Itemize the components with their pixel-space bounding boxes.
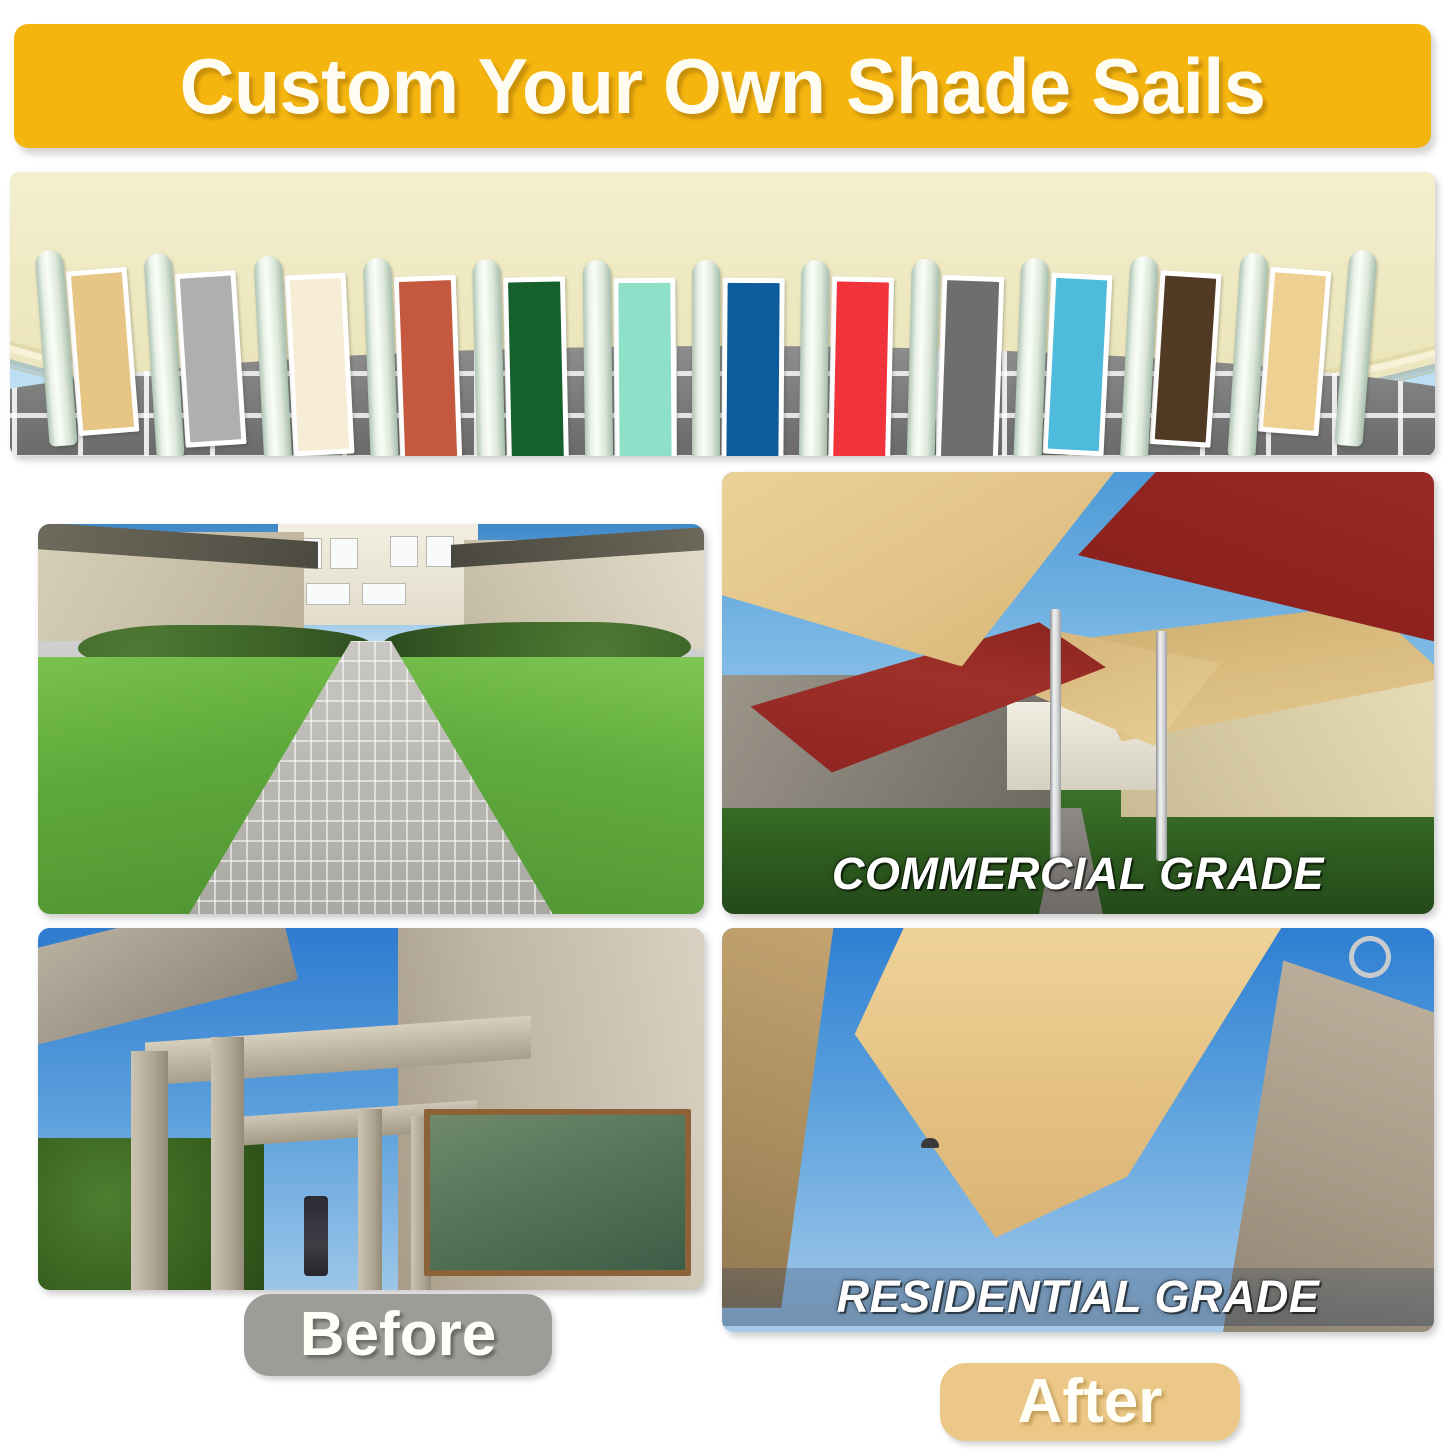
color-swatch-light-grey[interactable]	[175, 270, 247, 447]
residential-grade-overlay: RESIDENTIAL GRADE	[722, 1268, 1434, 1326]
color-swatch-royal-blue[interactable]	[721, 278, 784, 456]
after-badge-label: After	[1018, 1371, 1163, 1433]
courtyard-without-shade-photo	[38, 524, 704, 914]
photo-content	[38, 928, 704, 1290]
support-post	[1156, 631, 1167, 861]
commercial-grade-overlay: COMMERCIAL GRADE	[722, 846, 1434, 902]
color-swatch-red[interactable]	[828, 277, 894, 456]
commercial-grade-label: COMMERCIAL GRADE	[832, 848, 1324, 900]
page-title: Custom Your Own Shade Sails	[180, 47, 1266, 125]
color-swatch-fill	[508, 282, 564, 456]
glass-door	[424, 1109, 690, 1276]
color-swatch-fill	[1155, 276, 1216, 443]
pergola-column	[131, 1051, 168, 1290]
commercial-grade-photo: COMMERCIAL GRADE	[722, 472, 1434, 914]
color-swatch-dark-green[interactable]	[503, 277, 569, 456]
pergola-before-photo	[38, 928, 704, 1290]
support-post	[1050, 609, 1061, 861]
pergola-column	[358, 1109, 382, 1290]
color-swatch-brown[interactable]	[1150, 270, 1222, 447]
color-swatch-fill	[618, 283, 671, 456]
color-swatch-sand-2[interactable]	[1257, 267, 1330, 436]
color-swatch-banner	[10, 172, 1435, 456]
pergola-column	[211, 1037, 244, 1290]
worker	[304, 1196, 327, 1276]
color-swatch-fill	[941, 280, 999, 456]
after-badge: After	[940, 1363, 1240, 1441]
product-infographic: Custom Your Own Shade Sails	[0, 0, 1445, 1452]
color-swatch-fill	[726, 283, 779, 456]
colonnade-column	[1334, 249, 1377, 447]
color-swatch-cream[interactable]	[284, 273, 354, 456]
color-swatch-fill	[833, 282, 889, 456]
swatch-row	[10, 172, 1435, 456]
color-swatch-fill	[71, 272, 133, 430]
color-swatch-dark-grey[interactable]	[935, 275, 1003, 456]
colonnade-column	[582, 260, 613, 456]
color-swatch-sand[interactable]	[66, 267, 139, 436]
residential-grade-photo: RESIDENTIAL GRADE	[722, 928, 1434, 1332]
colonnade-column	[472, 259, 506, 456]
colonnade-column	[799, 260, 830, 456]
color-swatch-fill	[180, 276, 241, 443]
color-swatch-fill	[399, 280, 457, 456]
color-swatch-sky-blue[interactable]	[1043, 273, 1113, 456]
colonnade-column	[692, 260, 720, 456]
color-swatch-fill	[1263, 272, 1325, 430]
wall-lamp	[921, 1138, 939, 1148]
header-banner: Custom Your Own Shade Sails	[14, 24, 1431, 148]
color-swatch-fill	[289, 278, 349, 451]
color-swatch-fill	[1048, 278, 1108, 451]
photo-content	[38, 524, 704, 914]
residential-grade-label: RESIDENTIAL GRADE	[837, 1271, 1320, 1323]
colonnade-column	[906, 259, 940, 456]
before-badge: Before	[244, 1294, 552, 1376]
color-swatch-mint[interactable]	[613, 278, 676, 456]
before-badge-label: Before	[300, 1304, 496, 1366]
color-swatch-terracotta[interactable]	[394, 275, 462, 456]
center-building	[278, 524, 478, 625]
